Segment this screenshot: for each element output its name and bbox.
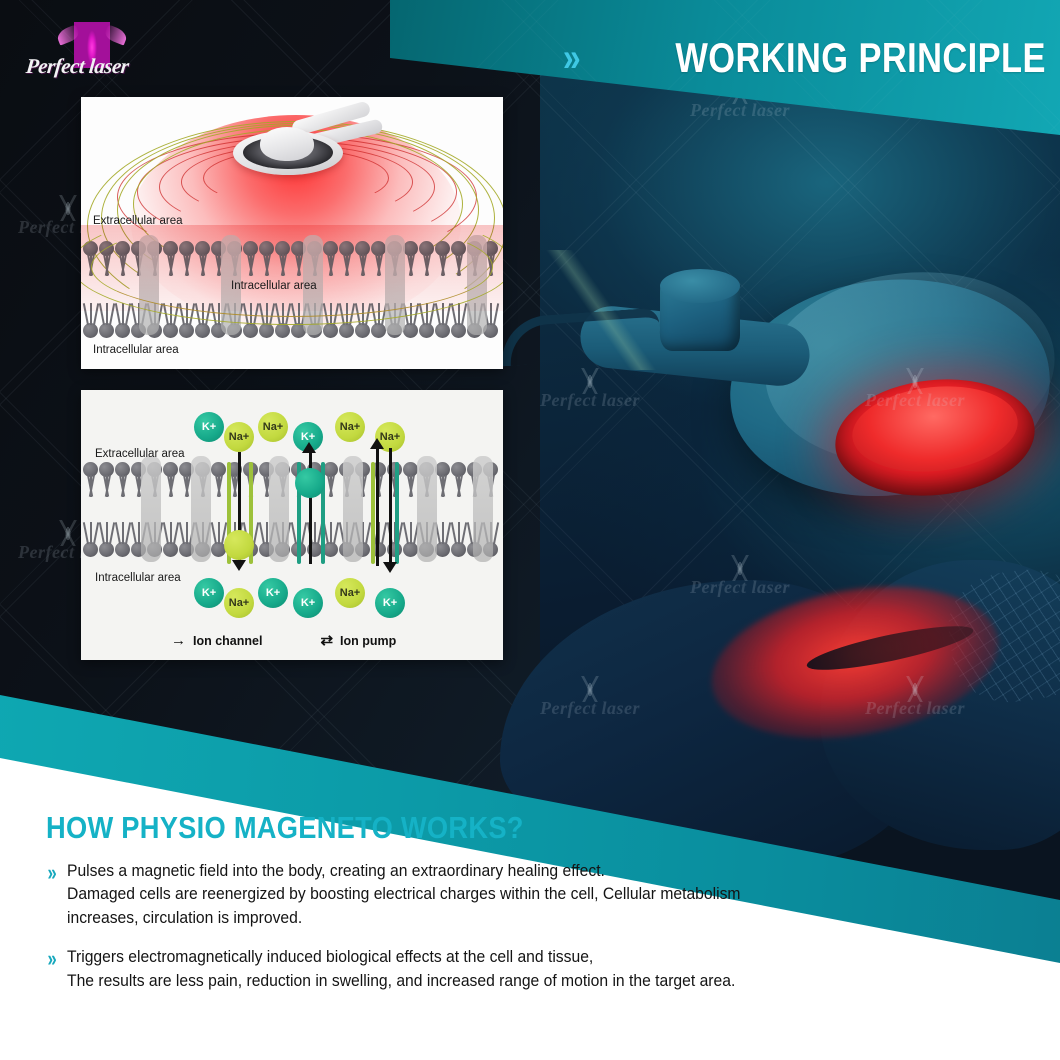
watermark: Perfect laser xyxy=(865,368,965,411)
watermark-label: Perfect laser xyxy=(540,390,640,410)
lipid-tail xyxy=(461,303,467,325)
lipid-tail xyxy=(163,522,169,544)
lipid-head xyxy=(275,323,290,338)
ion-k-in-channel xyxy=(295,468,325,498)
lipid-tail xyxy=(109,522,115,544)
lipid-tail xyxy=(83,303,89,325)
lipid-head xyxy=(115,542,130,557)
arrow-right-icon: → xyxy=(171,633,186,648)
lipid-tail xyxy=(115,522,121,544)
lipid-tail xyxy=(109,303,115,325)
lipid-tail xyxy=(314,522,316,544)
applicator-illustration xyxy=(233,105,378,177)
page-title: » WORKING PRINCIPLE xyxy=(561,34,1046,82)
lipid-tail xyxy=(179,522,185,544)
lipid-head xyxy=(99,323,114,338)
pump-flow-line xyxy=(376,448,379,566)
watermark: Perfect laser xyxy=(865,676,965,719)
lipid-tail xyxy=(173,522,179,544)
lipid-head xyxy=(403,323,418,338)
watermark-label: Perfect laser xyxy=(865,698,965,718)
legend-item-ion-channel: → Ion channel xyxy=(171,633,262,648)
lipid-head xyxy=(323,323,338,338)
lipid-tail xyxy=(99,303,105,325)
lipid-tail xyxy=(125,522,131,544)
ion-k: K+ xyxy=(194,578,224,608)
bullet-line: Damaged cells are reenergized by boostin… xyxy=(67,883,740,906)
lipid-tail xyxy=(93,303,99,325)
label-intracellular-area-bottom: Intracellular area xyxy=(93,344,179,356)
lipid-head xyxy=(179,323,194,338)
lipid-tail xyxy=(467,522,473,544)
lipid-head xyxy=(163,323,178,338)
chevron-double-right-icon: » xyxy=(48,946,57,993)
lipid-tail xyxy=(365,522,371,544)
arrow-down-icon xyxy=(232,560,246,571)
watermark: Perfect laser xyxy=(540,368,640,411)
arrow-up-icon xyxy=(370,438,384,449)
ion-k: K+ xyxy=(375,588,405,618)
lipid-head xyxy=(163,542,178,557)
membrane-protein xyxy=(417,456,437,562)
diagram-panel-ion-transport: K+Na+Na+K+Na+Na+ K+Na+K+K+Na+K+ Extracel… xyxy=(81,390,503,660)
arrow-bidirectional-icon: ⇄ xyxy=(320,633,333,648)
ion-k: K+ xyxy=(258,578,288,608)
lipid-head xyxy=(115,323,130,338)
membrane-protein xyxy=(141,456,161,562)
lipid-head xyxy=(243,323,258,338)
bullet-line: Pulses a magnetic field into the body, c… xyxy=(67,860,740,883)
lipid-tail xyxy=(122,303,124,325)
brand-logo[interactable]: Perfect laser xyxy=(26,22,156,84)
ion-na: Na+ xyxy=(224,588,254,618)
lipid-tail xyxy=(259,522,265,544)
lipid-head xyxy=(403,542,418,557)
lipid-head xyxy=(99,542,114,557)
lipid-tail xyxy=(90,522,92,544)
lipid-head xyxy=(195,323,210,338)
lipid-tail xyxy=(211,522,217,544)
legend-label-ion-pump: Ion pump xyxy=(340,634,396,648)
lipid-head xyxy=(371,323,386,338)
lipid-head xyxy=(259,323,274,338)
bullet-item: »Triggers electromagnetically induced bi… xyxy=(46,946,1032,993)
pump-flow-line xyxy=(389,448,392,566)
lipid-tail xyxy=(493,303,499,325)
lipid-head xyxy=(451,323,466,338)
lipid-head xyxy=(83,542,98,557)
lipid-tail xyxy=(122,522,124,544)
pump-wall xyxy=(395,462,399,564)
lipid-tail xyxy=(99,522,105,544)
lipid-tail xyxy=(461,522,467,544)
lipid-tail xyxy=(451,303,457,325)
lipid-head xyxy=(339,323,354,338)
lipid-tail xyxy=(170,522,172,544)
lipid-tail xyxy=(253,522,259,544)
membrane-protein xyxy=(343,456,363,562)
watermark-label: Perfect laser xyxy=(540,698,640,718)
lipid-tail xyxy=(218,522,220,544)
ion-na: Na+ xyxy=(224,422,254,452)
lipid-tail xyxy=(410,522,412,544)
lipid-tail xyxy=(125,303,131,325)
lipid-head xyxy=(435,323,450,338)
watermark: Perfect laser xyxy=(540,676,640,719)
field-wave-deep xyxy=(91,217,493,317)
lipid-tail xyxy=(458,303,460,325)
watermark-label: Perfect laser xyxy=(690,100,790,120)
page-title-text: WORKING PRINCIPLE xyxy=(675,34,1046,82)
lipid-tail xyxy=(451,522,457,544)
ion-k: K+ xyxy=(194,412,224,442)
lipid-tail xyxy=(301,522,307,544)
arrow-up-icon xyxy=(302,442,316,453)
arrow-down-icon xyxy=(383,562,397,573)
legend-item-ion-pump: ⇄ Ion pump xyxy=(320,633,396,648)
lipid-tail xyxy=(445,522,451,544)
lipid-tail xyxy=(93,522,99,544)
lipid-tail xyxy=(403,522,409,544)
membrane-protein xyxy=(473,456,493,562)
bullet-line: Triggers electromagnetically induced bio… xyxy=(67,946,735,969)
label-intracellular-area-mid: Intracellular area xyxy=(231,280,317,292)
bullet-list: »Pulses a magnetic field into the body, … xyxy=(0,860,1060,993)
lipid-head xyxy=(451,542,466,557)
ion-na: Na+ xyxy=(258,412,288,442)
watermark: Perfect laser xyxy=(690,555,790,598)
legend-label-ion-channel: Ion channel xyxy=(193,634,262,648)
lipid-tail xyxy=(490,303,492,325)
lipid-tail xyxy=(106,522,108,544)
lipid-tail xyxy=(186,522,188,544)
lipid-head xyxy=(83,323,98,338)
diagram-panel-magnetic-field: Extracellular area Intracellular area In… xyxy=(81,97,503,369)
lipid-tail xyxy=(115,303,121,325)
membrane-protein xyxy=(269,456,289,562)
lipid-tail xyxy=(266,522,268,544)
logo-wordmark: Perfect laser xyxy=(25,54,158,79)
lipid-tail xyxy=(90,303,92,325)
ion-na: Na+ xyxy=(335,412,365,442)
label-intracellular-area: Intracellular area xyxy=(95,572,181,584)
lipid-tail xyxy=(333,522,339,544)
lipid-tail xyxy=(131,522,137,544)
lipid-tail xyxy=(83,522,89,544)
lipid-head xyxy=(323,542,338,557)
chevron-double-right-icon: » xyxy=(48,860,57,930)
lipid-head xyxy=(355,323,370,338)
lipid-head xyxy=(419,323,434,338)
lipid-tail xyxy=(106,303,108,325)
lipid-tail xyxy=(138,522,140,544)
lipid-tail xyxy=(291,522,297,544)
ion-na-in-channel xyxy=(224,530,254,560)
bullet-text: Pulses a magnetic field into the body, c… xyxy=(67,860,740,930)
diagram-legend: → Ion channel ⇄ Ion pump xyxy=(171,633,396,648)
lipid-tail xyxy=(442,522,444,544)
watermark-label: Perfect laser xyxy=(690,577,790,597)
bullet-text: Triggers electromagnetically induced bio… xyxy=(67,946,735,993)
bottom-copy-section: HOW PHYSIO MAGENETO WORKS? »Pulses a mag… xyxy=(0,810,1060,1009)
watermark-label: Perfect laser xyxy=(865,390,965,410)
infographic-page: Perfect laser Perfect laser Perfect lase… xyxy=(0,0,1060,1060)
lipid-tail xyxy=(458,522,460,544)
membrane-protein xyxy=(191,456,211,562)
ion-na: Na+ xyxy=(335,578,365,608)
lipid-tail xyxy=(381,522,387,544)
lipid-head xyxy=(435,542,450,557)
bullet-line: The results are less pain, reduction in … xyxy=(67,970,735,993)
pump-wall xyxy=(371,462,375,564)
chevron-double-right-icon: » xyxy=(563,38,578,78)
label-extracellular-area: Extracellular area xyxy=(93,215,182,227)
lipid-tail xyxy=(493,522,499,544)
section-heading: HOW PHYSIO MAGENETO WORKS? xyxy=(46,810,938,846)
bullet-line: increases, circulation is improved. xyxy=(67,907,740,930)
label-extracellular-area: Extracellular area xyxy=(95,448,184,460)
applicator-hub xyxy=(260,127,314,161)
lipid-tail xyxy=(330,522,332,544)
ion-k: K+ xyxy=(293,588,323,618)
bullet-item: »Pulses a magnetic field into the body, … xyxy=(46,860,1032,930)
device-highlight xyxy=(520,250,680,370)
